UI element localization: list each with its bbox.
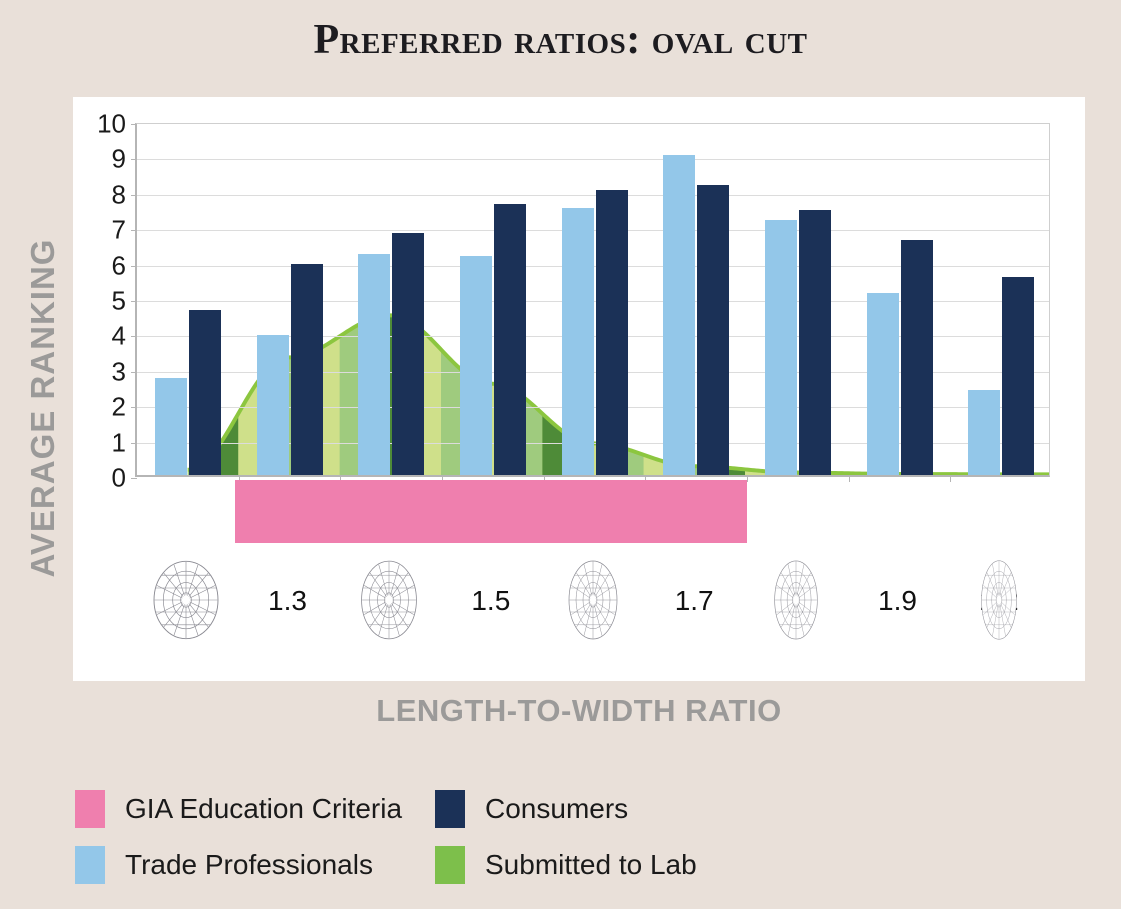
legend-label-consumers: Consumers	[485, 793, 628, 825]
x-axis-title: LENGTH-TO-WIDTH RATIO	[73, 693, 1085, 729]
legend-label-gia: GIA Education Criteria	[125, 793, 402, 825]
oval-diamond-illustrations	[73, 97, 1085, 681]
legend-row: GIA Education Criteria Consumers	[75, 790, 975, 828]
chart-card: 012345678910 1.21.31.41.51.61.71.81.92.2	[73, 97, 1085, 681]
y-axis-title: AVERAGE RANKING	[24, 228, 62, 588]
legend-label-lab: Submitted to Lab	[485, 849, 697, 881]
legend-item-gia: GIA Education Criteria	[75, 790, 435, 828]
legend-swatch-gia	[75, 790, 105, 828]
page-title: Preferred Ratios: Oval Cut	[0, 16, 1121, 64]
oval-diamond-icon	[153, 560, 220, 645]
legend-swatch-lab	[435, 846, 465, 884]
legend-label-trade: Trade Professionals	[125, 849, 373, 881]
legend-swatch-trade	[75, 846, 105, 884]
oval-diamond-icon	[568, 560, 618, 645]
legend-item-trade: Trade Professionals	[75, 846, 435, 884]
oval-diamond-icon	[774, 560, 818, 645]
oval-diamond-icon	[361, 560, 418, 645]
oval-diamond-icon	[981, 560, 1017, 645]
chart-legend: GIA Education Criteria Consumers Trade P…	[75, 790, 975, 902]
legend-swatch-consumers	[435, 790, 465, 828]
legend-item-lab: Submitted to Lab	[435, 846, 697, 884]
legend-row: Trade Professionals Submitted to Lab	[75, 846, 975, 884]
legend-item-consumers: Consumers	[435, 790, 628, 828]
